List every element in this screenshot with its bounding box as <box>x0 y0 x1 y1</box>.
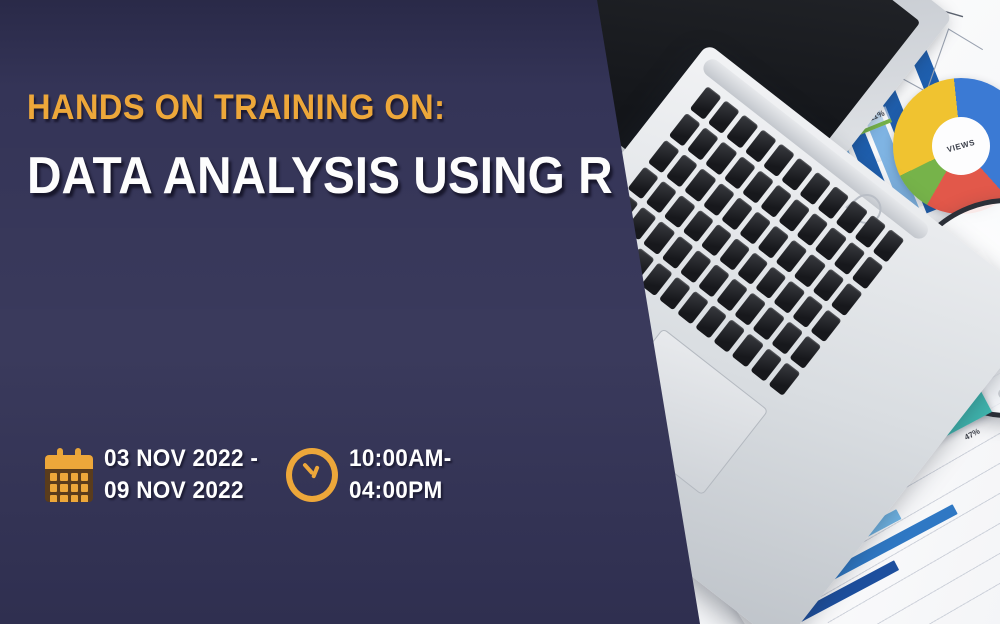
page-title: DATA ANALYSIS USING R <box>27 146 613 206</box>
date-block: 03 NOV 2022 - 09 NOV 2022 <box>45 443 268 506</box>
clock-icon <box>286 448 338 502</box>
date-line-1: 03 NOV 2022 - <box>104 443 258 475</box>
date-text: 03 NOV 2022 - 09 NOV 2022 <box>104 443 258 506</box>
calendar-icon <box>45 448 93 502</box>
time-text: 10:00AM- 04:00PM <box>349 443 452 506</box>
time-block: 10:00AM- 04:00PM <box>286 443 458 506</box>
time-line-2: 04:00PM <box>349 475 452 507</box>
training-banner: VIEWS 13.65% 11.11% 19.43% Production 46… <box>0 0 1000 624</box>
time-line-1: 10:00AM- <box>349 443 452 475</box>
donut-chart: VIEWS <box>893 78 1000 214</box>
date-line-2: 09 NOV 2022 <box>104 475 258 507</box>
event-details: 03 NOV 2022 - 09 NOV 2022 10:00AM- 04:00… <box>45 443 458 506</box>
eyebrow-text: HANDS ON TRAINING ON: <box>27 88 445 128</box>
